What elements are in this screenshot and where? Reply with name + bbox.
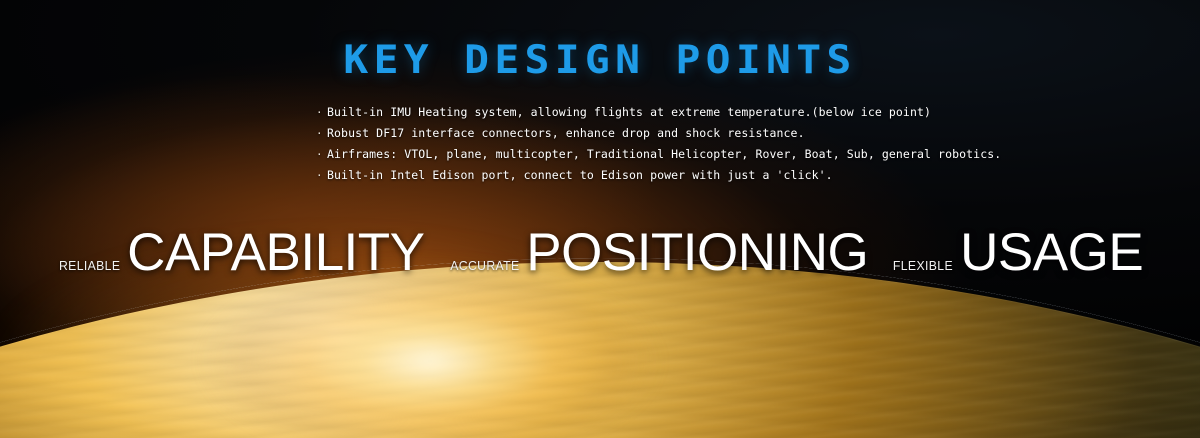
tagline-word: POSITIONING — [526, 226, 868, 279]
tagline-qualifier: RELIABLE — [59, 258, 120, 273]
list-item: · Built-in Intel Edison port, connect to… — [316, 165, 936, 186]
list-item-text: Built-in IMU Heating system, allowing fl… — [327, 102, 931, 123]
list-item-text: Built-in Intel Edison port, connect to E… — [327, 165, 833, 186]
page-title: KEY DESIGN POINTS — [0, 38, 1200, 83]
bullet-marker-icon: · — [316, 102, 327, 123]
tagline-row: RELIABLE CAPABILITY ACCURATE POSITIONING… — [0, 226, 1200, 279]
tagline-word: USAGE — [960, 226, 1143, 279]
list-item-text: Robust DF17 interface connectors, enhanc… — [327, 123, 805, 144]
list-item: · Built-in IMU Heating system, allowing … — [316, 102, 936, 123]
tagline-item-capability: RELIABLE CAPABILITY — [57, 226, 425, 279]
list-item-text: Airframes: VTOL, plane, multicopter, Tra… — [327, 144, 1001, 165]
banner: KEY DESIGN POINTS · Built-in IMU Heating… — [0, 0, 1200, 438]
list-item: · Robust DF17 interface connectors, enha… — [316, 123, 936, 144]
bullet-marker-icon: · — [316, 123, 327, 144]
bullet-marker-icon: · — [316, 144, 327, 165]
list-item: · Airframes: VTOL, plane, multicopter, T… — [316, 144, 936, 165]
tagline-qualifier: ACCURATE — [450, 258, 519, 273]
feature-list: · Built-in IMU Heating system, allowing … — [316, 102, 936, 186]
tagline-item-positioning: ACCURATE POSITIONING — [448, 226, 869, 279]
tagline-item-usage: FLEXIBLE USAGE — [891, 226, 1143, 279]
bullet-marker-icon: · — [316, 165, 327, 186]
tagline-qualifier: FLEXIBLE — [893, 258, 953, 273]
tagline-word: CAPABILITY — [127, 226, 424, 279]
